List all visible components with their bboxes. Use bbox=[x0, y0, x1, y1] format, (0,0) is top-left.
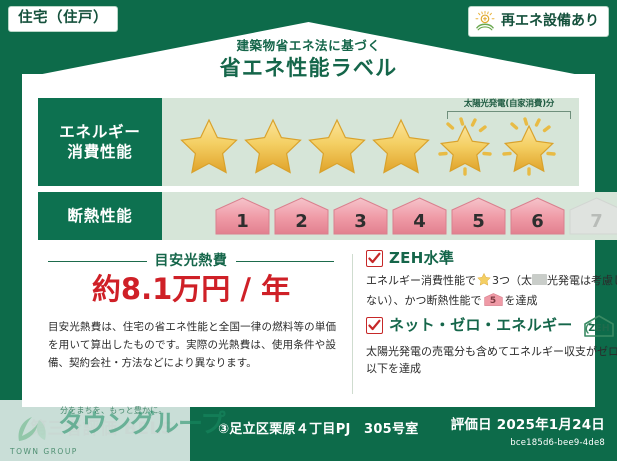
insulation-level-4: 4 bbox=[391, 196, 448, 236]
star-2 bbox=[242, 114, 304, 176]
metric-value-insulation: 1 2 3 4 bbox=[162, 192, 617, 240]
insulation-level-5-label: 5 bbox=[450, 213, 507, 231]
insulation-level-2: 2 bbox=[273, 196, 330, 236]
cost-note: 目安光熱費は、住宅の省エネ性能と全国一律の燃料等の単価を用いて算出したものです。… bbox=[38, 318, 344, 372]
insulation-level-7: 7 bbox=[568, 196, 617, 236]
star-1 bbox=[178, 114, 240, 176]
star-4 bbox=[370, 114, 432, 176]
zeh-net-zero-header: ネット・ゼロ・エネルギー ZEH ZEH bbox=[366, 314, 617, 338]
label-house-card: 建築物省エネ法に基づく 省エネ性能ラベル エネルギー 消費性能 太陽光発電(自家… bbox=[22, 22, 595, 407]
inline-star-icon bbox=[477, 272, 491, 292]
cost-rule-right bbox=[236, 261, 335, 262]
footer-certificate-id: bce185d6-bee9-4de8 bbox=[451, 439, 605, 448]
zeh-net-zero-desc: 太陽光発電の売電分も含めてエネルギー収支がゼロ以下を達成 bbox=[366, 343, 617, 379]
zeh-panel: ZEH水準 エネルギー消費性能で 3つ（太光発電は考慮しない）、かつ断熱性能で … bbox=[352, 250, 617, 398]
zeh-standard-desc-post: を達成 bbox=[505, 294, 538, 307]
metric-label-energy: エネルギー 消費性能 bbox=[38, 98, 162, 186]
insulation-scale: 1 2 3 4 bbox=[162, 196, 617, 236]
cost-header: 目安光熱費 bbox=[38, 250, 344, 268]
label-title-block: 建築物省エネ法に基づく 省エネ性能ラベル bbox=[22, 38, 595, 80]
footer-date-block: 評価日 2025年1月24日 bce185d6-bee9-4de8 bbox=[451, 419, 605, 447]
insulation-level-3-label: 3 bbox=[332, 213, 389, 231]
solar-bracket-label: 太陽光発電(自家消費)分 bbox=[447, 100, 571, 109]
metric-label-energy-line2: 消費性能 bbox=[67, 142, 132, 162]
redacted-text-block bbox=[532, 274, 547, 285]
page-title: 省エネ性能ラベル bbox=[22, 56, 595, 80]
insulation-level-6-label: 6 bbox=[509, 213, 566, 231]
check-icon bbox=[366, 317, 383, 334]
lower-section: 目安光熱費 約8.1万円 / 年 目安光熱費は、住宅の省エネ性能と全国一律の燃料… bbox=[38, 250, 579, 398]
zeh-standard-title: ZEH水準 bbox=[389, 251, 454, 266]
insulation-level-1: 1 bbox=[214, 196, 271, 236]
cost-title: 目安光熱費 bbox=[155, 254, 228, 268]
metric-label-insulation-text: 断熱性能 bbox=[67, 206, 132, 226]
star-3 bbox=[306, 114, 368, 176]
inline-insulation-level: 5 bbox=[484, 297, 503, 306]
insulation-level-7-label: 7 bbox=[568, 213, 617, 231]
zeh-item-standard: ZEH水準 エネルギー消費性能で 3つ（太光発電は考慮しない）、かつ断熱性能で … bbox=[366, 250, 617, 310]
star-rating bbox=[162, 114, 560, 176]
footer-bar: 第三者評価 BELS ③足立区栗原４丁目PJ 305号室 評価日 2025年1月… bbox=[0, 407, 617, 461]
check-icon bbox=[366, 250, 383, 267]
metric-label-energy-line1: エネルギー bbox=[59, 122, 141, 142]
insulation-level-3: 3 bbox=[332, 196, 389, 236]
zeh-net-zero-title: ネット・ゼロ・エネルギー bbox=[389, 318, 573, 333]
vertical-divider bbox=[352, 254, 353, 394]
zeh-item-net-zero: ネット・ゼロ・エネルギー ZEH ZEH 太陽光発電の売電分も含めてエネルギー収… bbox=[366, 314, 617, 379]
metrics-section: エネルギー 消費性能 太陽光発電(自家消費)分 bbox=[38, 98, 579, 246]
metric-label-insulation: 断熱性能 bbox=[38, 192, 162, 240]
metric-value-energy: 太陽光発電(自家消費)分 bbox=[162, 98, 579, 186]
footer-address: ③足立区栗原４丁目PJ 305号室 bbox=[218, 423, 419, 436]
insulation-level-5: 5 bbox=[450, 196, 507, 236]
metric-row-energy: エネルギー 消費性能 太陽光発電(自家消費)分 bbox=[38, 98, 579, 186]
star-5-solar bbox=[434, 114, 496, 176]
star-6-solar bbox=[498, 114, 560, 176]
inline-insulation-badge: 5 bbox=[484, 292, 503, 307]
cost-amount: 約8.1万円 / 年 bbox=[38, 274, 344, 306]
insulation-level-4-label: 4 bbox=[391, 213, 448, 231]
cost-rule-left bbox=[48, 261, 147, 262]
cost-panel: 目安光熱費 約8.1万円 / 年 目安光熱費は、住宅の省エネ性能と全国一律の燃料… bbox=[38, 250, 352, 398]
zeh-standard-desc: エネルギー消費性能で 3つ（太光発電は考慮しない）、かつ断熱性能で 5 を達成 bbox=[366, 272, 617, 310]
zeh-standard-desc-pre: エネルギー消費性能で bbox=[366, 274, 476, 287]
zeh-standard-header: ZEH水準 bbox=[366, 250, 617, 267]
svg-text:ZEH: ZEH bbox=[588, 323, 609, 334]
label-subtitle: 建築物省エネ法に基づく bbox=[22, 38, 595, 53]
footer-evaluation-date: 評価日 2025年1月24日 bbox=[451, 419, 605, 433]
metric-row-insulation: 断熱性能 1 2 bbox=[38, 192, 579, 240]
insulation-level-6: 6 bbox=[509, 196, 566, 236]
energy-performance-label: 住宅（住戸） 再エネ設備あり bbox=[0, 0, 617, 461]
insulation-level-2-label: 2 bbox=[273, 213, 330, 231]
insulation-level-1-label: 1 bbox=[214, 213, 271, 231]
zeh-standard-desc-mid: 3つ（太 bbox=[492, 274, 532, 287]
footer-bels-label: 第三者評価 BELS bbox=[30, 421, 174, 438]
zeh-house-badge-icon: ZEH ZEH bbox=[582, 314, 617, 338]
